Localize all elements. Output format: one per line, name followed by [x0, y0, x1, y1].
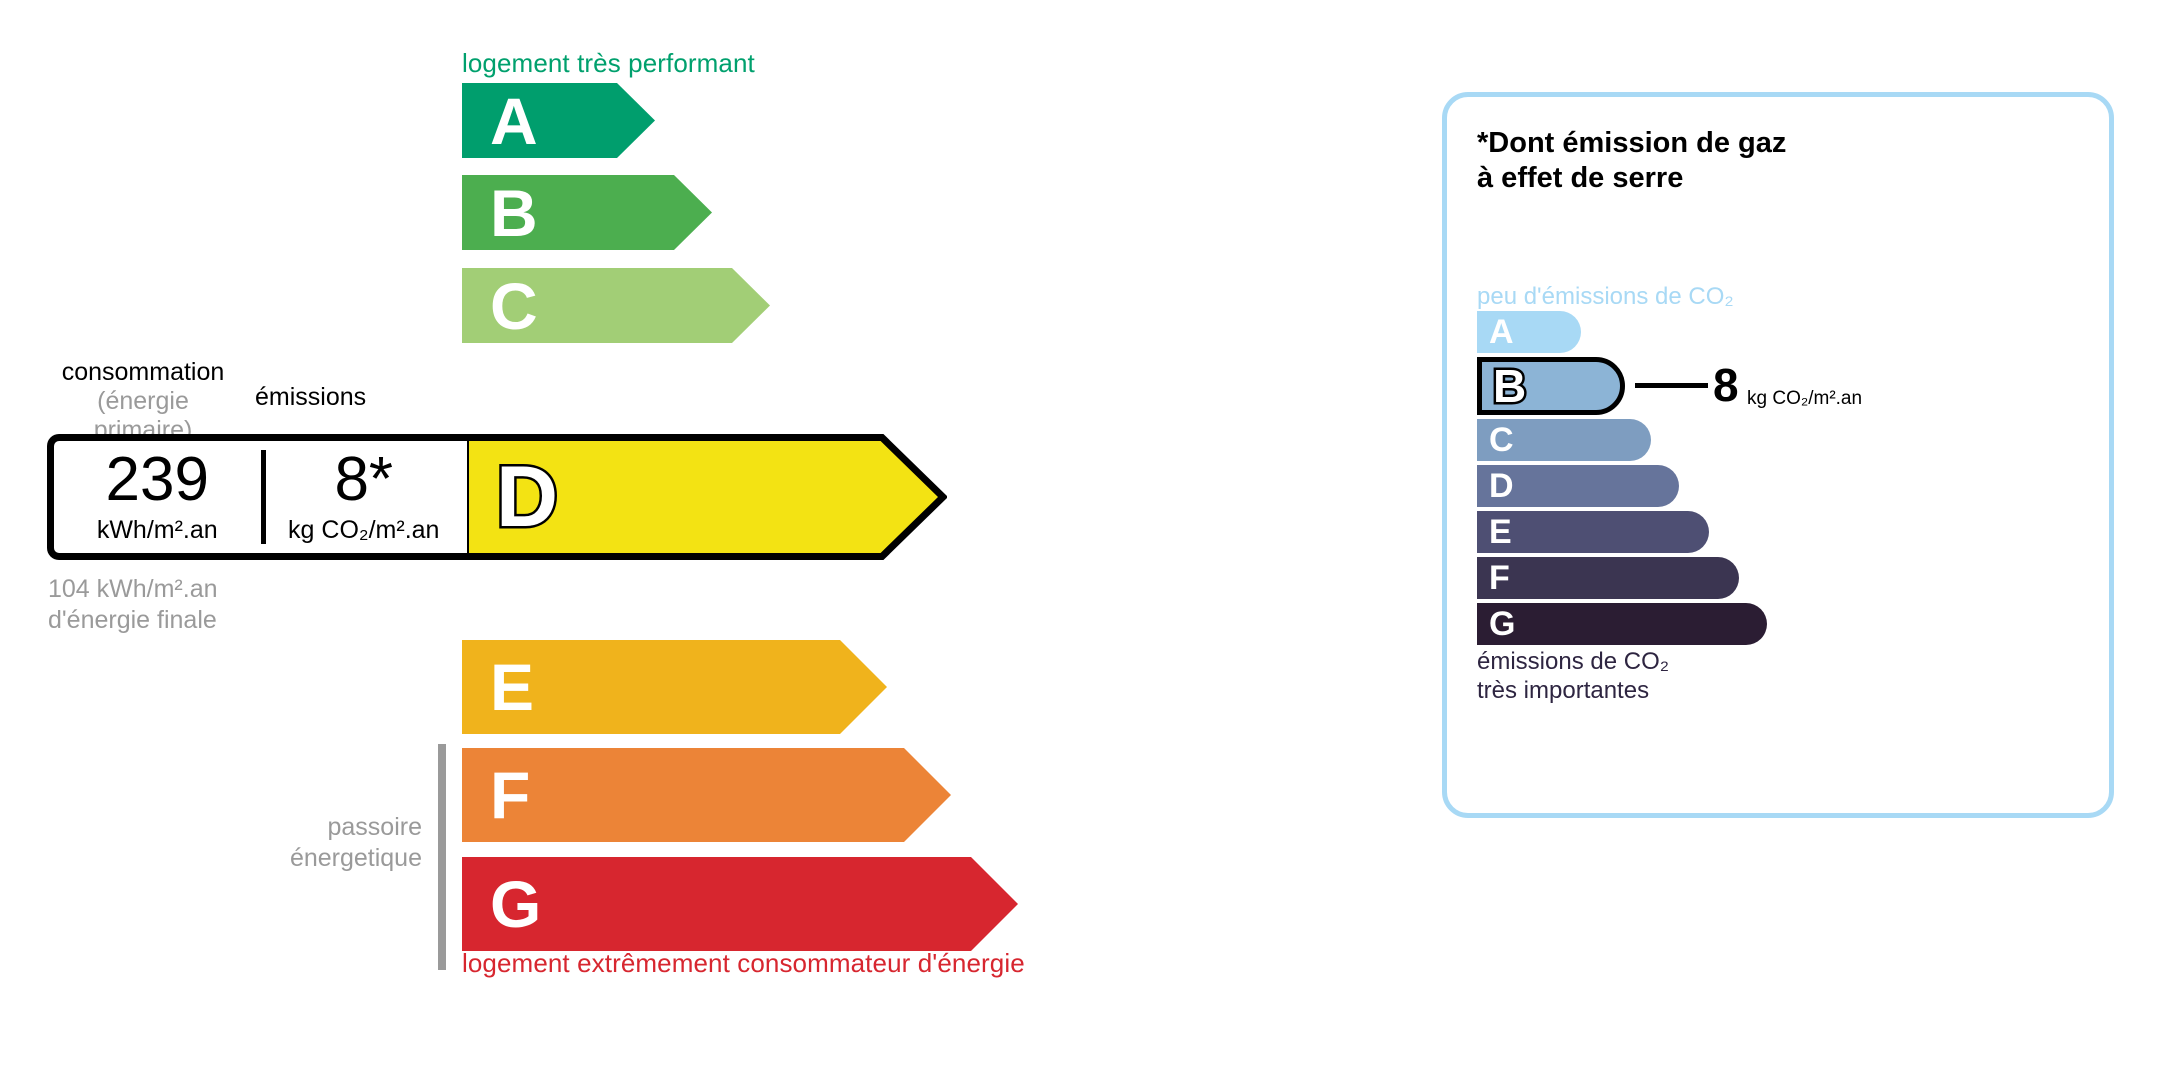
ges-panel-title: *Dont émission de gaz à effet de serre	[1477, 126, 1786, 197]
ges-class-row-C[interactable]: C	[1477, 419, 1651, 461]
energy-class-row-C[interactable]: C	[462, 268, 770, 343]
ges-callout-leader-line	[1635, 383, 1708, 388]
energy-class-letter-D: D	[496, 454, 558, 540]
energy-class-letter-A: A	[490, 88, 538, 154]
energy-scale-top-caption: logement très performant	[462, 48, 755, 79]
emissions-cell: 8* kg CO₂/m².an	[261, 441, 468, 553]
ges-title-line1: *Dont émission de gaz	[1477, 126, 1786, 161]
energie-finale-note: 104 kWh/m².an d'énergie finale	[48, 574, 218, 637]
ges-callout-unit: kg CO₂/m².an	[1747, 389, 1862, 408]
energy-class-row-F[interactable]: F	[462, 748, 951, 842]
ges-bar-E	[1477, 511, 1709, 553]
energie-finale-line1: 104 kWh/m².an	[48, 574, 218, 605]
energy-class-row-G[interactable]: G	[462, 857, 1018, 951]
ges-class-letter-G: G	[1489, 607, 1515, 641]
ges-bar-G	[1477, 603, 1767, 645]
energy-class-letter-E: E	[490, 654, 534, 720]
ges-bottom-caption-line1: émissions de CO₂	[1477, 647, 1669, 676]
ges-top-caption: peu d'émissions de CO₂	[1477, 283, 1734, 311]
ges-bottom-caption: émissions de CO₂ très importantes	[1477, 647, 1669, 706]
ges-bottom-caption-line2: très importantes	[1477, 676, 1669, 705]
passoire-indicator-bar	[438, 744, 446, 970]
ges-class-row-B[interactable]: B	[1477, 357, 1625, 415]
consommation-cell: 239 kWh/m².an	[54, 441, 261, 553]
energy-class-row-A[interactable]: A	[462, 83, 655, 158]
dpe-diagram: logement très performant A B C	[0, 0, 2170, 1079]
ges-class-letter-B: B	[1493, 363, 1526, 409]
ges-bar-F	[1477, 557, 1739, 599]
emissions-label: émissions	[255, 383, 366, 412]
energy-scale-bottom-caption: logement extrêmement consommateur d'éner…	[462, 948, 1025, 979]
energy-arrow-F	[462, 748, 951, 842]
ges-class-row-F[interactable]: F	[1477, 557, 1739, 599]
passoire-label-line1: passoire	[238, 812, 422, 843]
energy-class-row-E[interactable]: E	[462, 640, 887, 734]
energy-class-letter-G: G	[490, 871, 541, 937]
ges-class-letter-D: D	[1489, 469, 1514, 503]
ges-class-letter-C: C	[1489, 423, 1514, 457]
ges-panel: *Dont émission de gaz à effet de serre p…	[1442, 92, 2114, 818]
ges-callout-value: 8	[1713, 362, 1739, 408]
passoire-label: passoire énergetique	[238, 812, 422, 875]
passoire-label-line2: énergetique	[238, 843, 422, 874]
energy-class-letter-B: B	[490, 180, 538, 246]
consommation-label: consommation (énergie primaire)	[48, 358, 238, 444]
emissions-unit: kg CO₂/m².an	[288, 516, 439, 545]
ges-class-letter-E: E	[1489, 515, 1512, 549]
ges-class-row-G[interactable]: G	[1477, 603, 1767, 645]
ges-class-row-A[interactable]: A	[1477, 311, 1581, 353]
emissions-value: 8*	[334, 449, 393, 511]
energy-arrow-G	[462, 857, 1018, 951]
energy-class-letter-F: F	[490, 762, 530, 828]
ges-title-line2: à effet de serre	[1477, 161, 1786, 196]
ges-class-row-E[interactable]: E	[1477, 511, 1709, 553]
ges-class-row-D[interactable]: D	[1477, 465, 1679, 507]
consommation-value-box: 239 kWh/m².an 8* kg CO₂/m².an	[47, 434, 467, 560]
consommation-label-main: consommation	[62, 358, 225, 386]
consommation-unit: kWh/m².an	[97, 516, 218, 545]
consommation-value: 239	[106, 449, 209, 511]
energie-finale-line2: d'énergie finale	[48, 605, 218, 636]
energy-class-row-D[interactable]: D	[462, 434, 947, 560]
ges-class-letter-A: A	[1489, 315, 1514, 349]
ges-class-letter-F: F	[1489, 561, 1510, 595]
energy-class-letter-C: C	[490, 273, 538, 339]
energy-class-row-B[interactable]: B	[462, 175, 712, 250]
